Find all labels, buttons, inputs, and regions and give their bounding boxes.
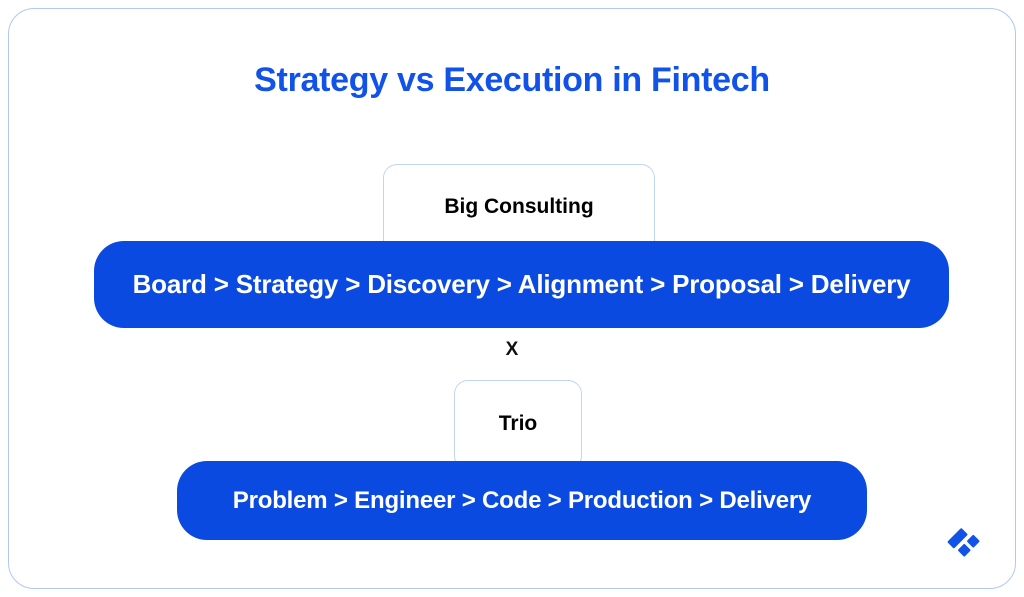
slide-frame: Strategy vs Execution in Fintech Big Con… xyxy=(8,8,1016,589)
pill-trio-flow: Problem > Engineer > Code > Production >… xyxy=(177,461,867,540)
page-title: Strategy vs Execution in Fintech xyxy=(9,61,1015,100)
card-big-consulting-label: Big Consulting xyxy=(384,195,654,219)
trio-logo-icon xyxy=(945,522,985,562)
card-trio: Trio xyxy=(454,380,582,470)
card-trio-label: Trio xyxy=(455,412,581,436)
pill-big-consulting-flow-text: Board > Strategy > Discovery > Alignment… xyxy=(133,269,911,300)
separator-x: X xyxy=(9,339,1015,361)
pill-big-consulting-flow: Board > Strategy > Discovery > Alignment… xyxy=(94,241,949,328)
pill-trio-flow-text: Problem > Engineer > Code > Production >… xyxy=(233,487,811,515)
